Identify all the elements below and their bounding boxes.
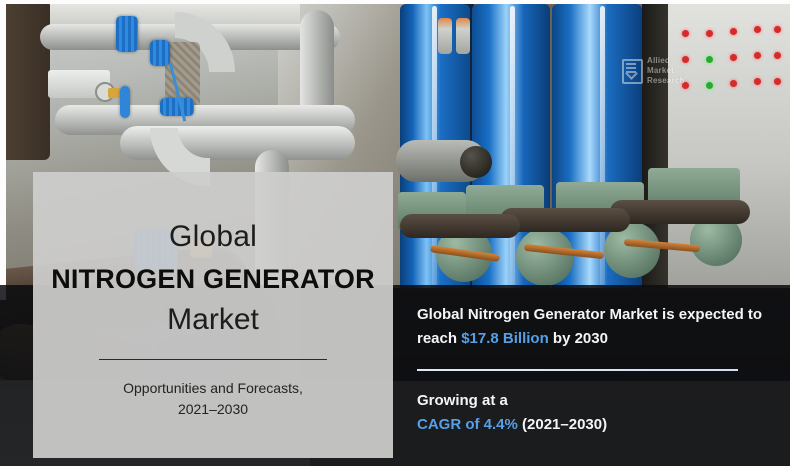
page-title: NITROGEN GENERATOR <box>51 266 375 293</box>
photo-frame-top <box>0 0 790 4</box>
forecast-statement: Global Nitrogen Generator Market is expe… <box>417 303 777 351</box>
watermark-line-2: Market <box>647 66 674 75</box>
allied-market-research-watermark: Allied Market Research <box>622 48 708 94</box>
compressor-head <box>516 228 574 286</box>
title-suffix: Market <box>167 305 259 335</box>
blue-valve-stem <box>120 86 130 118</box>
inline-filter <box>438 18 452 54</box>
market-report-banner: Allied Market Research Global NITROGEN G… <box>0 0 790 466</box>
allied-market-research-logo-icon <box>622 59 643 84</box>
title-card: Global NITROGEN GENERATOR Market Opportu… <box>33 172 393 458</box>
refrigerant-pipe <box>400 214 520 238</box>
watermark-text: Allied Market Research <box>647 56 685 86</box>
compressor-motor-end <box>460 146 492 178</box>
title-eyebrow: Global <box>169 222 257 252</box>
inline-filter <box>456 18 470 54</box>
refrigerant-pipe <box>610 200 750 224</box>
cagr-value: CAGR of 4.4% <box>417 416 518 433</box>
brass-fitting <box>108 88 120 98</box>
title-divider <box>99 359 327 360</box>
subtitle-line-1: Opportunities and Forecasts, <box>123 380 303 396</box>
watermark-line-1: Allied <box>647 56 670 65</box>
brown-pipe-vertical <box>0 0 50 160</box>
subtitle-line-2: 2021–2030 <box>178 401 248 417</box>
cagr-lead: Growing at a <box>417 392 508 409</box>
blue-valve-actuator <box>116 16 138 52</box>
blue-valve-actuator <box>150 40 170 66</box>
cagr-tail: (2021–2030) <box>518 416 607 433</box>
photo-frame-left <box>0 0 6 300</box>
forecast-value: $17.8 Billion <box>461 330 549 347</box>
tank-highlight <box>510 6 515 286</box>
stats-divider <box>417 369 738 371</box>
blue-valve-actuator <box>160 98 194 116</box>
cagr-statement: Growing at a CAGR of 4.4% (2021–2030) <box>417 389 777 437</box>
title-subtitle: Opportunities and Forecasts, 2021–2030 <box>123 378 303 420</box>
forecast-tail: by 2030 <box>549 330 608 347</box>
watermark-line-3: Research <box>647 76 685 85</box>
